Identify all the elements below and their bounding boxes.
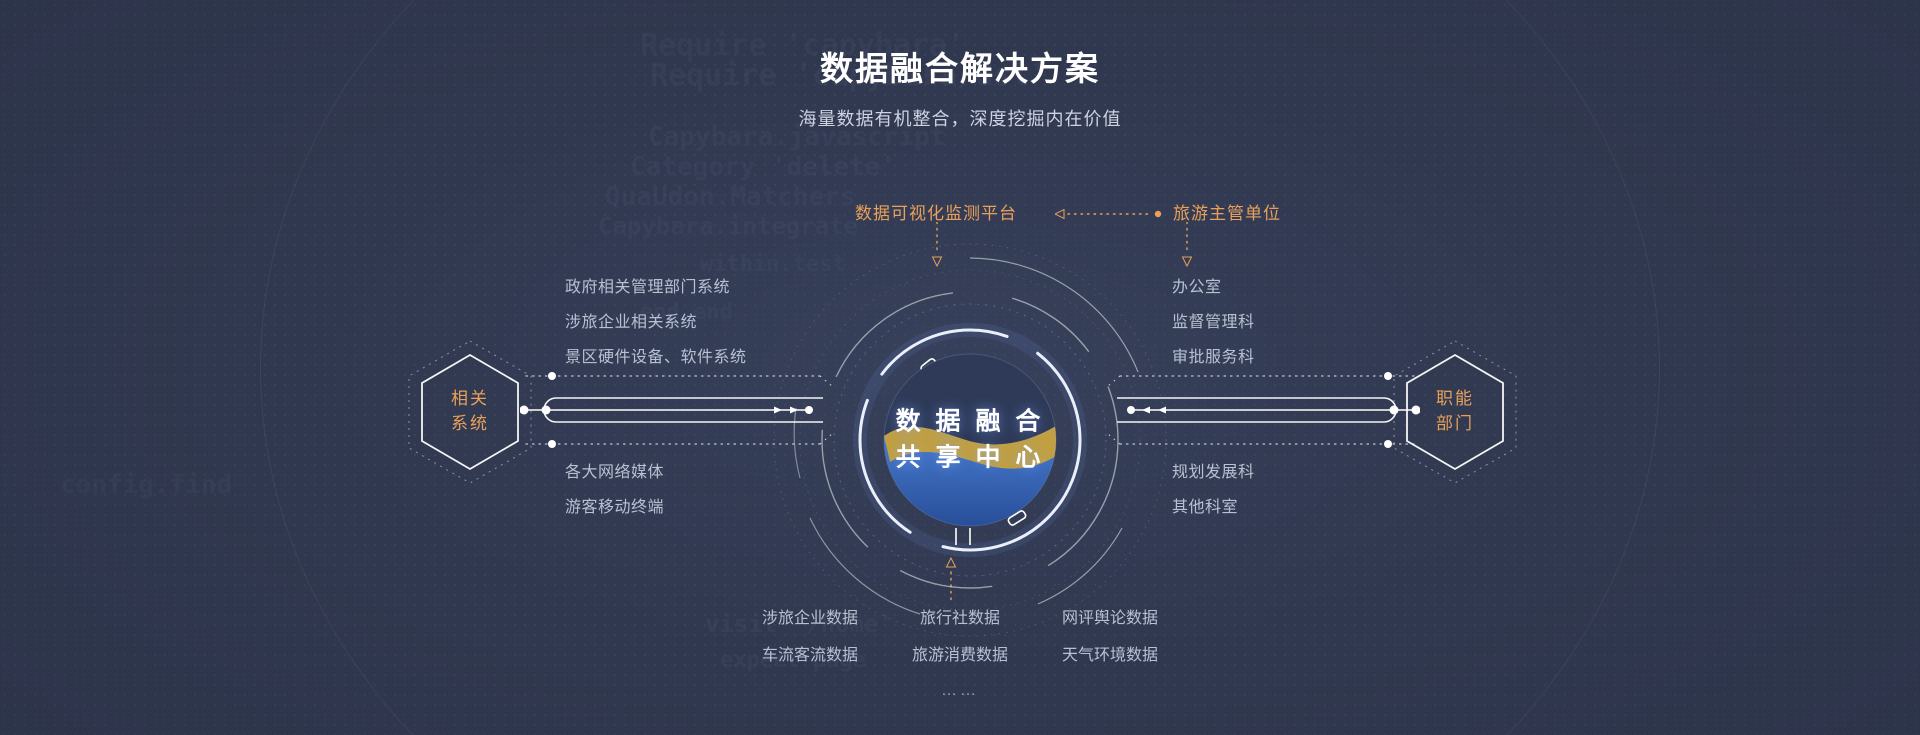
bottom-data-ellipsis: …… (735, 682, 1185, 700)
list-item: 办公室 (1172, 270, 1255, 305)
hexagon-left-icon (395, 337, 545, 487)
hub-rings-icon (770, 240, 1170, 640)
list-item: 游客移动终端 (565, 490, 664, 525)
list-item: 其他科室 (1172, 490, 1255, 525)
list-left-bottom: 各大网络媒体 游客移动终端 (565, 455, 664, 525)
list-item: 各大网络媒体 (565, 455, 664, 490)
top-connector-arrow-icon (1055, 208, 1165, 220)
list-item: 政府相关管理部门系统 (565, 270, 747, 305)
background-code-line: Category 'delete' (630, 152, 896, 182)
table-row: 车流客流数据 旅游消费数据 天气环境数据 (735, 637, 1185, 674)
list-item: 天气环境数据 (1035, 637, 1185, 674)
hexagon-right-icon (1380, 337, 1530, 487)
list-right-top: 办公室 监督管理科 审批服务科 (1172, 270, 1255, 375)
label-tourism-authority: 旅游主管单位 (1173, 199, 1281, 224)
background-code-line: Capybara.integrate (598, 212, 858, 240)
list-item: 车流客流数据 (735, 637, 885, 674)
list-right-bottom: 规划发展科 其他科室 (1172, 455, 1255, 525)
list-item: 规划发展科 (1172, 455, 1255, 490)
page-title: 数据融合解决方案 (0, 42, 1920, 90)
list-item: 审批服务科 (1172, 340, 1255, 375)
list-item: 景区硬件设备、软件系统 (565, 340, 747, 375)
list-left-top: 政府相关管理部门系统 涉旅企业相关系统 景区硬件设备、软件系统 (565, 270, 747, 375)
label-visualization-platform: 数据可视化监测平台 (855, 199, 1017, 224)
background-code-line: config.find (60, 470, 232, 500)
background-code-line: QuaUdon.Matchers (605, 182, 855, 212)
page-subtitle: 海量数据有机整合，深度挖掘内在价值 (0, 105, 1920, 131)
hexagon-functional-departments[interactable]: 职能 部门 (1380, 337, 1530, 487)
central-hub[interactable]: 数 据 融 合 共 享 中 心 (770, 240, 1170, 640)
list-item: 监督管理科 (1172, 305, 1255, 340)
list-item: 涉旅企业相关系统 (565, 305, 747, 340)
authority-drop-connector-icon (1180, 222, 1194, 268)
list-item: 旅游消费数据 (885, 637, 1035, 674)
hexagon-related-systems[interactable]: 相关 系统 (395, 337, 545, 487)
